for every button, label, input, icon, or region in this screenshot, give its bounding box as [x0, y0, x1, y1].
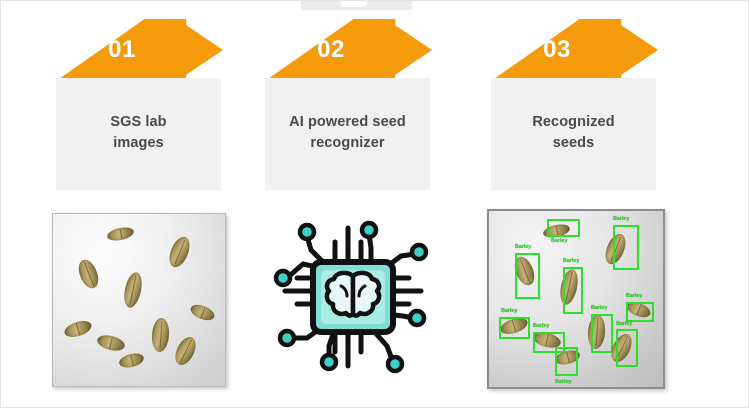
detection-class-label: Barley [626, 293, 642, 299]
step-label-line2: recognizer [273, 133, 422, 154]
step-number-2: 02 [265, 36, 397, 64]
slide-canvas: 01 SGS lab images 02 AI powered seed rec… [0, 0, 749, 408]
step-label-3: Recognized seeds [499, 112, 648, 154]
step-arrow-banner-2: 02 [265, 19, 432, 81]
step-card-3: Recognized seeds [491, 78, 656, 190]
step-label-line2: images [64, 133, 213, 154]
step-label-line2: seeds [499, 133, 648, 154]
detection-class-label: Barley [501, 308, 517, 314]
detection-bounding-box [555, 347, 578, 376]
step-label-line1: SGS lab [64, 112, 213, 133]
annotated-detection-photo: BarleyBarleyBarleyBarleyBarleyBarleyBarl… [487, 209, 665, 389]
detection-class-label: Barley [613, 216, 629, 222]
barley-seed-photo [52, 213, 226, 387]
detection-class-label: Barley [563, 258, 579, 264]
detection-bounding-box [515, 253, 540, 299]
step-arrow-banner-3: 03 [491, 19, 658, 81]
detection-bounding-box [547, 219, 580, 237]
step-label-1: SGS lab images [64, 112, 213, 154]
step-column-3: 03 Recognized seeds BarleyBarleyBarleyBa… [474, 1, 674, 408]
detection-class-label: Barley [515, 244, 531, 250]
detection-bounding-box [616, 329, 638, 367]
detection-bounding-box [563, 267, 583, 314]
detection-class-label: Barley [591, 305, 607, 311]
detection-class-label: Barley [555, 379, 571, 385]
detection-bounding-box [626, 302, 654, 322]
ai-brain-chip-icon [263, 206, 443, 386]
step-card-2: AI powered seed recognizer [265, 78, 430, 190]
detection-bounding-box [591, 314, 613, 353]
step-number-3: 03 [491, 36, 623, 64]
step-arrow-banner-1: 01 [56, 19, 223, 81]
step-label-line1: AI powered seed [273, 112, 422, 133]
detection-bounding-box [499, 317, 530, 339]
step-label-line1: Recognized [499, 112, 648, 133]
step-card-1: SGS lab images [56, 78, 221, 190]
detection-class-label: Barley [616, 321, 632, 327]
step-column-2: 02 AI powered seed recognizer [248, 1, 448, 408]
step-number-1: 01 [56, 36, 188, 64]
detection-bounding-box [613, 225, 639, 270]
step-label-2: AI powered seed recognizer [273, 112, 422, 154]
detection-class-label: Barley [533, 323, 549, 329]
step-column-1: 01 SGS lab images [39, 1, 239, 408]
detection-class-label: Barley [551, 238, 567, 244]
